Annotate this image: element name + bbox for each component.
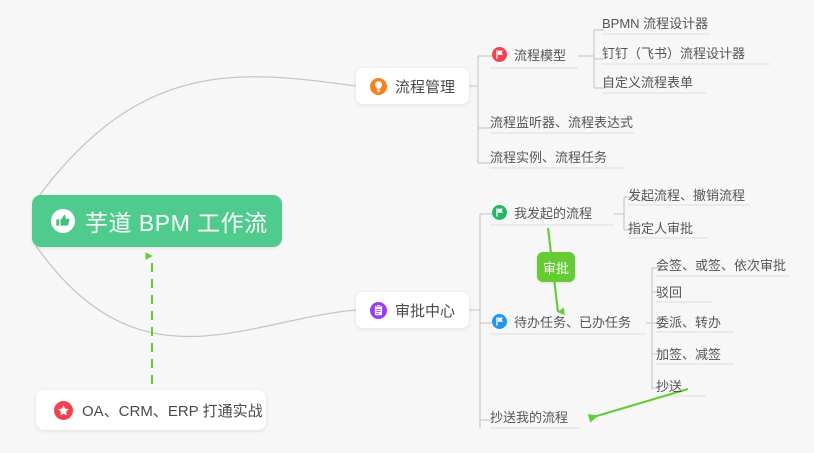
leaf-label-countersign: 会签、或签、依次审批 [656, 255, 786, 274]
leaf-dingtalk-feishu-designer[interactable]: 钉钉（飞书）流程设计器 [602, 40, 745, 66]
leaf-label-start-cancel: 发起流程、撤销流程 [628, 185, 745, 204]
leaf-my-initiated[interactable]: 我发起的流程 [492, 200, 592, 226]
branch-label-approval-center: 审批中心 [395, 300, 455, 321]
leaf-delegate-transfer[interactable]: 委派、转办 [656, 309, 721, 335]
leaf-label-process-model: 流程模型 [514, 45, 566, 64]
branch-label-process-management: 流程管理 [395, 76, 455, 97]
leaf-start-cancel[interactable]: 发起流程、撤销流程 [628, 182, 745, 208]
thumbs-up-icon [50, 208, 76, 234]
bottom-card-integration[interactable]: OA、CRM、ERP 打通实战 [36, 390, 266, 430]
branch-card-process-management[interactable]: 流程管理 [356, 68, 469, 104]
leaf-instance-task[interactable]: 流程实例、流程任务 [490, 144, 607, 170]
leaf-label-instance-task: 流程实例、流程任务 [490, 147, 607, 166]
leaf-process-model[interactable]: 流程模型 [492, 42, 566, 68]
bottom-card-label: OA、CRM、ERP 打通实战 [82, 400, 263, 421]
link-root-to-approval-center [36, 246, 356, 337]
leaf-cc-to-me[interactable]: 抄送我的流程 [490, 404, 568, 430]
annotation-pill-approval: 审批 [537, 252, 575, 282]
leaf-label-cc: 抄送 [656, 376, 682, 395]
mindmap-canvas: 芋道 BPM 工作流 流程管理 审批中心 [0, 0, 814, 453]
clipboard-purple-icon [370, 302, 387, 319]
leaf-bpmn-designer[interactable]: BPMN 流程设计器 [602, 10, 708, 36]
root-label: 芋道 BPM 工作流 [85, 204, 268, 238]
leaf-label-bpmn-designer: BPMN 流程设计器 [602, 13, 708, 32]
root-node[interactable]: 芋道 BPM 工作流 [32, 195, 282, 247]
branch-card-approval-center[interactable]: 审批中心 [356, 292, 469, 328]
leaf-custom-process-form[interactable]: 自定义流程表单 [602, 69, 693, 95]
leaf-assignee-approval[interactable]: 指定人审批 [628, 215, 693, 241]
lightbulb-icon [370, 78, 387, 95]
leaf-add-remove-sign[interactable]: 加签、减签 [656, 341, 721, 367]
leaf-label-reject: 驳回 [656, 282, 682, 301]
star-red-icon [54, 401, 73, 420]
leaf-label-my-initiated: 我发起的流程 [514, 203, 592, 222]
leaf-label-custom-process-form: 自定义流程表单 [602, 72, 693, 91]
flag-green-icon [492, 205, 507, 220]
leaf-label-add-remove-sign: 加签、减签 [656, 344, 721, 363]
leaf-label-listener-expression: 流程监听器、流程表达式 [490, 112, 633, 131]
leaf-label-delegate-transfer: 委派、转办 [656, 312, 721, 331]
leaf-listener-expression[interactable]: 流程监听器、流程表达式 [490, 109, 633, 135]
leaf-label-assignee-approval: 指定人审批 [628, 218, 693, 237]
leaf-label-todo-done-tasks: 待办任务、已办任务 [514, 312, 631, 331]
leaf-label-cc-to-me: 抄送我的流程 [490, 407, 568, 426]
annotation-pill-label: 审批 [543, 258, 569, 277]
leaf-reject[interactable]: 驳回 [656, 279, 682, 305]
link-root-to-process-management [36, 77, 356, 200]
leaf-cc[interactable]: 抄送 [656, 373, 682, 399]
leaf-countersign[interactable]: 会签、或签、依次审批 [656, 252, 786, 278]
flag-blue-icon [492, 314, 507, 329]
leaf-todo-done-tasks[interactable]: 待办任务、已办任务 [492, 309, 631, 335]
leaf-label-dingtalk-feishu-designer: 钉钉（飞书）流程设计器 [602, 43, 745, 62]
flag-red-icon [492, 47, 507, 62]
